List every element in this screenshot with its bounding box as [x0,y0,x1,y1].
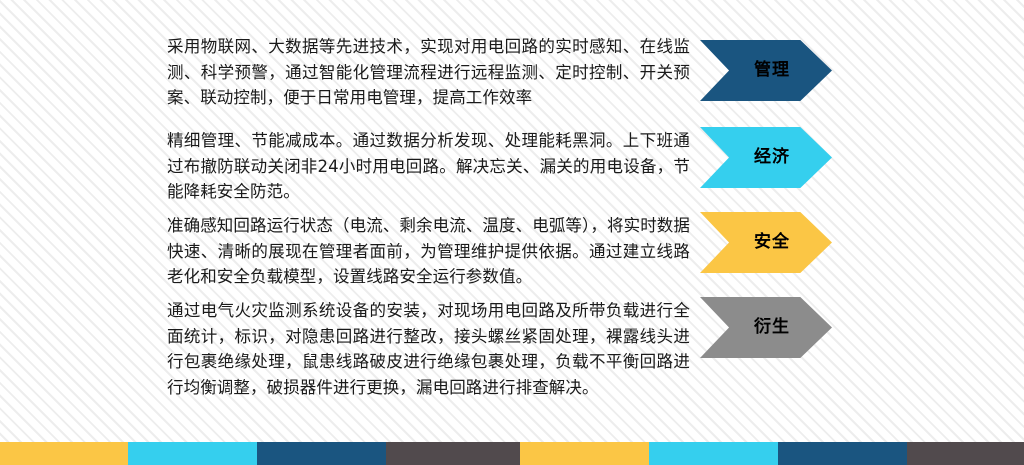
arrow-banner-safety[interactable]: 安全 [700,212,832,273]
color-segment [386,442,520,465]
bottom-color-bar [0,442,1024,465]
color-segment [257,442,386,465]
color-segment [128,442,257,465]
arrow-label-safety: 安全 [742,234,790,251]
slide-canvas: 采用物联网、大数据等先进技术，实现对用电回路的实时感知、在线监测、科学预警，通过… [0,0,1024,465]
arrow-banner-derivative[interactable]: 衍生 [700,297,832,358]
color-segment [778,442,907,465]
arrow-banner-economy[interactable]: 经济 [700,127,832,188]
paragraph-derivative: 通过电气火灾监测系统设备的安装，对现场用电回路及所带负载进行全面统计，标识，对隐… [167,298,690,402]
arrow-banner-management[interactable]: 管理 [700,40,832,101]
color-segment [649,442,778,465]
arrow-label-derivative: 衍生 [742,319,790,336]
paragraph-safety: 准确感知回路运行状态（电流、剩余电流、温度、电弧等），将实时数据快速、清晰的展现… [167,213,690,291]
color-segment [520,442,649,465]
paragraph-management: 采用物联网、大数据等先进技术，实现对用电回路的实时感知、在线监测、科学预警，通过… [167,34,690,112]
color-segment [907,442,1024,465]
color-segment [0,442,128,465]
paragraph-economy: 精细管理、节能减成本。通过数据分析发现、处理能耗黑洞。上下班通过布撤防联动关闭非… [167,128,690,206]
arrow-label-management: 管理 [742,62,790,79]
content-area: 采用物联网、大数据等先进技术，实现对用电回路的实时感知、在线监测、科学预警，通过… [0,0,1024,432]
arrow-label-economy: 经济 [742,149,790,166]
